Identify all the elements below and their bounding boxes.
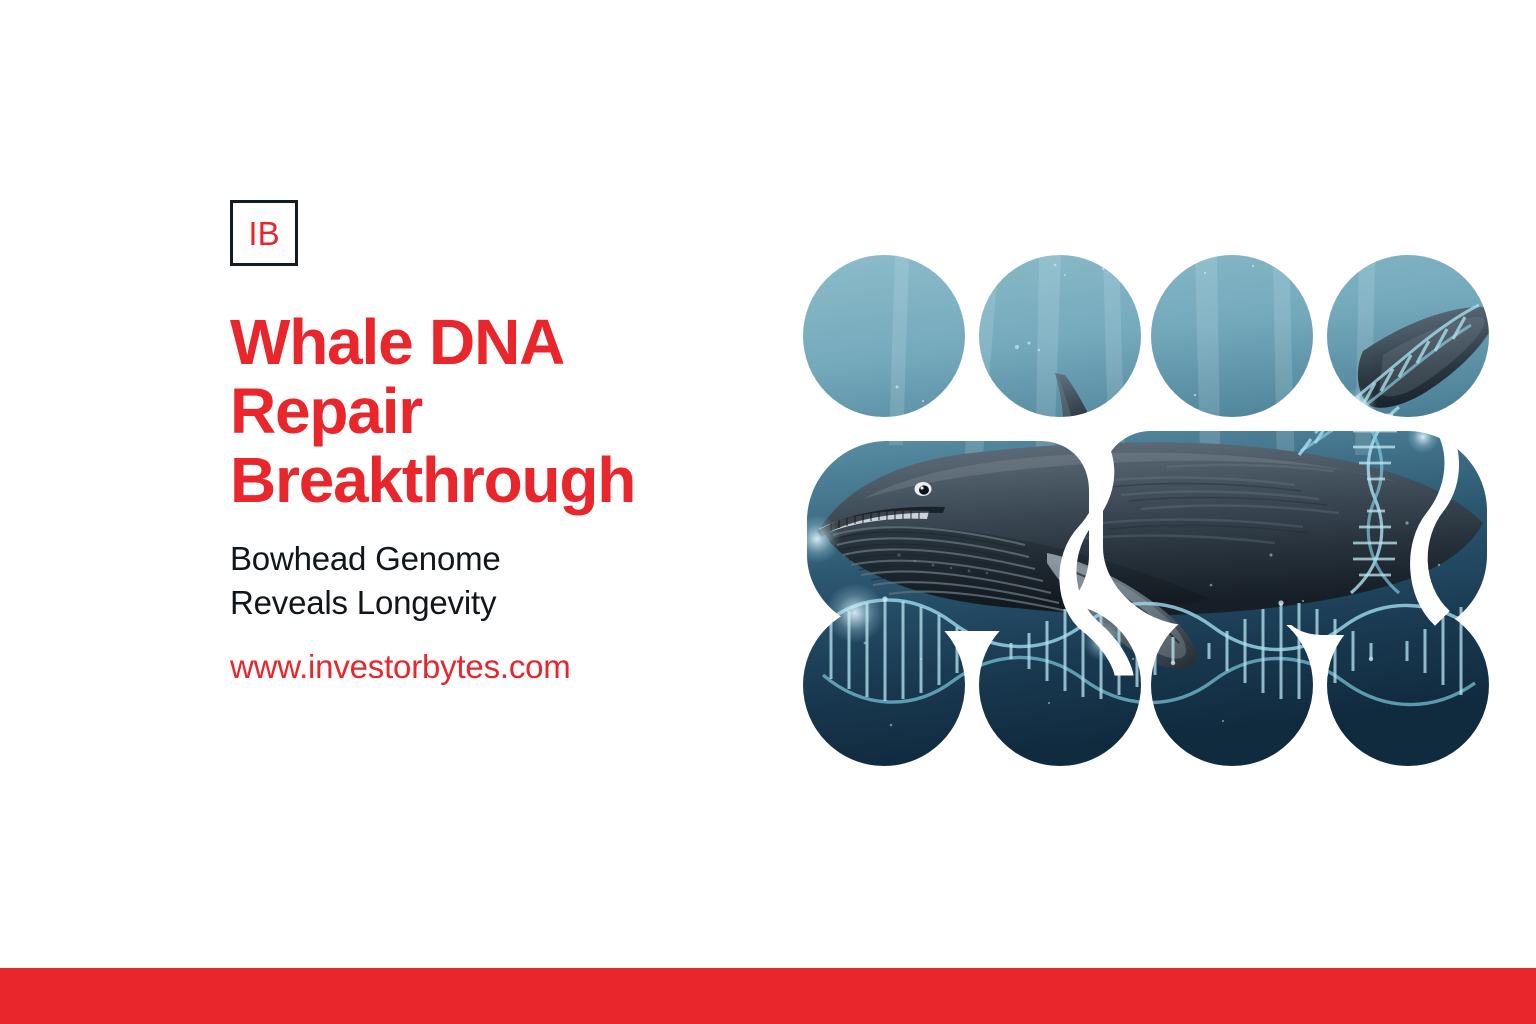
logo-initials: IB [248,217,279,250]
headline-line-2: Repair [230,377,790,446]
poster-canvas: IB Whale DNA Repair Breakthrough Bowhead… [0,0,1536,1024]
website-url[interactable]: www.investorbytes.com [230,648,790,686]
headline-line-3: Breakthrough [230,446,790,515]
page-subtitle: Bowhead Genome Reveals Longevity [230,537,790,624]
subtitle-line-1: Bowhead Genome [230,537,790,581]
collage-image-tiles [803,255,1489,767]
whale-dna-collage [803,255,1489,767]
text-column: IB Whale DNA Repair Breakthrough Bowhead… [230,200,790,686]
bottom-accent-bar [0,968,1536,1024]
investorbytes-logo[interactable]: IB [230,200,298,266]
page-title: Whale DNA Repair Breakthrough [230,308,790,515]
subtitle-line-2: Reveals Longevity [230,581,790,625]
headline-line-1: Whale DNA [230,308,790,377]
